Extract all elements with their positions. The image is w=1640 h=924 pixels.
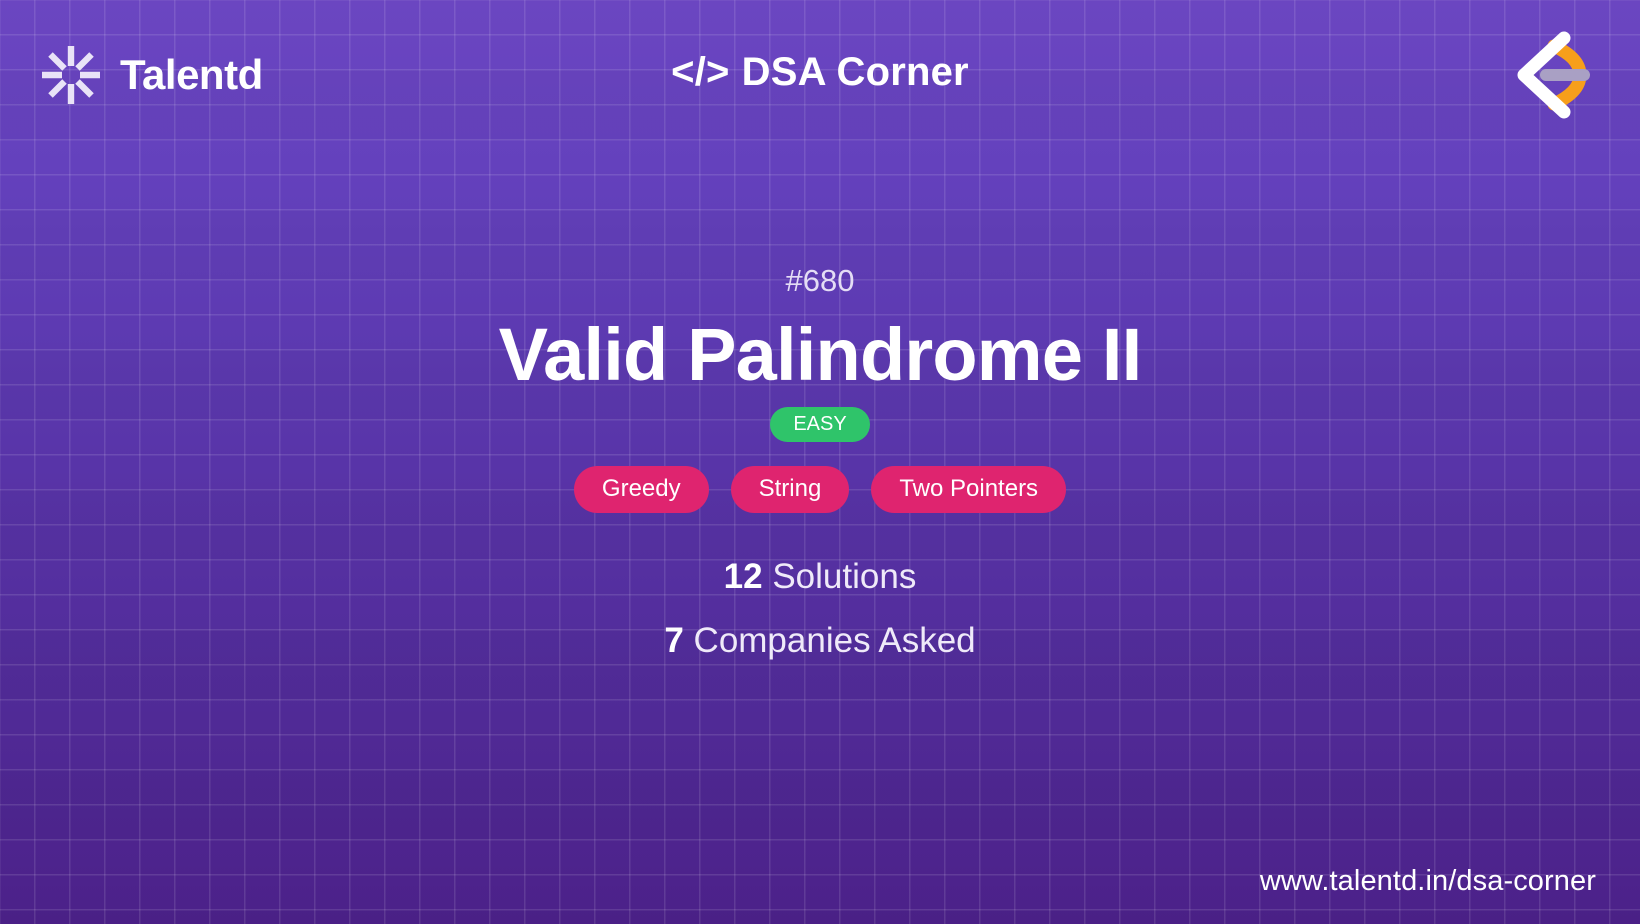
companies-stat: 7 Companies Asked [0, 619, 1640, 663]
dsa-corner-card: Talentd </>DSA Corner #680 Valid Palindr… [0, 0, 1640, 924]
solutions-count: 12 [724, 557, 763, 596]
problem-title: Valid Palindrome II [0, 315, 1640, 395]
problem-panel: #680 Valid Palindrome II EASY Greedy Str… [0, 262, 1640, 662]
solutions-stat: 12 Solutions [0, 555, 1640, 599]
difficulty-badge: EASY [770, 407, 869, 442]
tag-pill-greedy[interactable]: Greedy [574, 466, 709, 513]
header-bar: Talentd </>DSA Corner [0, 0, 1640, 152]
page-title: </>DSA Corner [0, 50, 1640, 95]
footer-bar: www.talentd.in/dsa-corner [1260, 865, 1596, 898]
page-title-label: DSA Corner [742, 50, 969, 94]
solutions-label: Solutions [763, 557, 917, 596]
leetcode-logo-icon [1498, 26, 1592, 124]
difficulty-row: EASY [0, 407, 1640, 442]
footer-url[interactable]: www.talentd.in/dsa-corner [1260, 865, 1596, 897]
companies-label: Companies Asked [684, 621, 976, 660]
tag-pill-string[interactable]: String [731, 466, 850, 513]
problem-number: #680 [0, 262, 1640, 301]
tag-row: Greedy String Two Pointers [0, 466, 1640, 513]
tag-pill-two-pointers[interactable]: Two Pointers [871, 466, 1066, 513]
code-tag-glyph: </> [671, 50, 729, 94]
companies-count: 7 [664, 621, 683, 660]
